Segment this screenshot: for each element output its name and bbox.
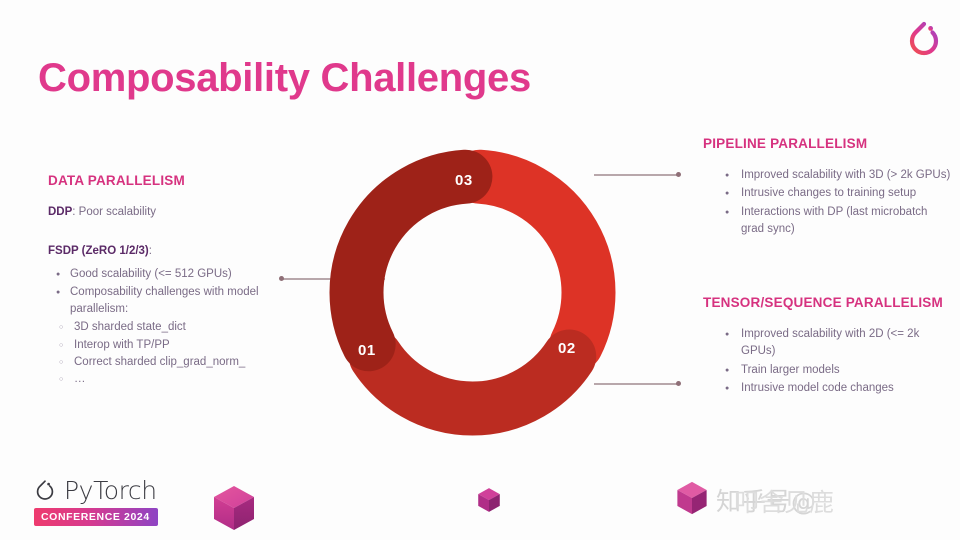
- list-item: Intrusive model code changes: [741, 380, 951, 397]
- list-item: Interactions with DP (last microbatch gr…: [741, 204, 951, 239]
- fsdp-label: FSDP (ZeRO 1/2/3): [48, 245, 149, 257]
- cube-icon: [208, 482, 260, 534]
- pipeline-parallelism-bullets: Improved scalability with 3D (> 2k GPUs)…: [703, 167, 951, 238]
- pytorch-logo-icon: [897, 12, 951, 66]
- ddp-text: : Poor scalability: [72, 206, 156, 218]
- list-item: Correct sharded clip_grad_norm_: [74, 354, 298, 371]
- tensor-parallelism-bullets: Improved scalability with 2D (<= 2k GPUs…: [703, 326, 951, 397]
- list-item: …: [74, 371, 298, 388]
- cube-icon: [673, 479, 711, 517]
- donut-segment-label-03[interactable]: 03: [455, 172, 473, 189]
- cube-icon: [475, 486, 503, 514]
- pytorch-flame-icon: [33, 478, 57, 504]
- heading-pipeline-parallelism: PIPELINE PARALLELISM: [703, 135, 951, 153]
- fsdp-text: :: [149, 245, 152, 257]
- heading-tensor-sequence-parallelism: TENSOR/SEQUENCE PARALLELISM: [703, 294, 951, 312]
- list-item: Composability challenges with model para…: [70, 284, 298, 319]
- donut-segment-label-01[interactable]: 01: [358, 342, 376, 359]
- watermark: 知乎号@ 叩舍见鹿: [716, 482, 816, 518]
- pytorch-wordmark: PyTorch: [64, 476, 157, 505]
- slide-root: Composability Challenges DATA PARALLELIS…: [0, 0, 960, 540]
- watermark-overlay-text: 叩舍见鹿: [734, 483, 834, 519]
- fsdp-line: FSDP (ZeRO 1/2/3):: [48, 243, 298, 260]
- conference-badge: CONFERENCE 2024: [34, 508, 158, 526]
- data-parallelism-subbullets: 3D sharded state_dict Interop with TP/PP…: [48, 319, 298, 388]
- list-item: Improved scalability with 2D (<= 2k GPUs…: [741, 326, 951, 361]
- block-data-parallelism: DATA PARALLELISM DDP: Poor scalability F…: [48, 172, 298, 388]
- donut-segment-01[interactable]: [480, 177, 589, 345]
- block-pipeline-parallelism: PIPELINE PARALLELISM Improved scalabilit…: [703, 135, 951, 239]
- connector-dot-left: [279, 276, 284, 281]
- data-parallelism-bullets: Good scalability (<= 512 GPUs) Composabi…: [48, 266, 298, 319]
- ddp-line: DDP: Poor scalability: [48, 204, 298, 221]
- donut-segment-label-02[interactable]: 02: [558, 340, 576, 357]
- donut-chart: [325, 145, 620, 440]
- block-tensor-sequence-parallelism: TENSOR/SEQUENCE PARALLELISM Improved sca…: [703, 294, 951, 398]
- list-item: Intrusive changes to training setup: [741, 185, 951, 202]
- list-item: Train larger models: [741, 362, 951, 379]
- connector-dot-bottom-right: [676, 381, 681, 386]
- list-item: Interop with TP/PP: [74, 337, 298, 354]
- connector-dot-top-right: [676, 172, 681, 177]
- donut-segment-03[interactable]: [357, 177, 466, 345]
- donut-segment-02[interactable]: [376, 357, 569, 409]
- heading-data-parallelism: DATA PARALLELISM: [48, 172, 298, 190]
- page-title: Composability Challenges: [38, 56, 531, 101]
- list-item: 3D sharded state_dict: [74, 319, 298, 336]
- pytorch-conference-brand: PyTorch CONFERENCE 2024: [33, 476, 158, 526]
- list-item: Improved scalability with 3D (> 2k GPUs): [741, 167, 951, 184]
- ddp-label: DDP: [48, 206, 72, 218]
- list-item: Good scalability (<= 512 GPUs): [70, 266, 298, 283]
